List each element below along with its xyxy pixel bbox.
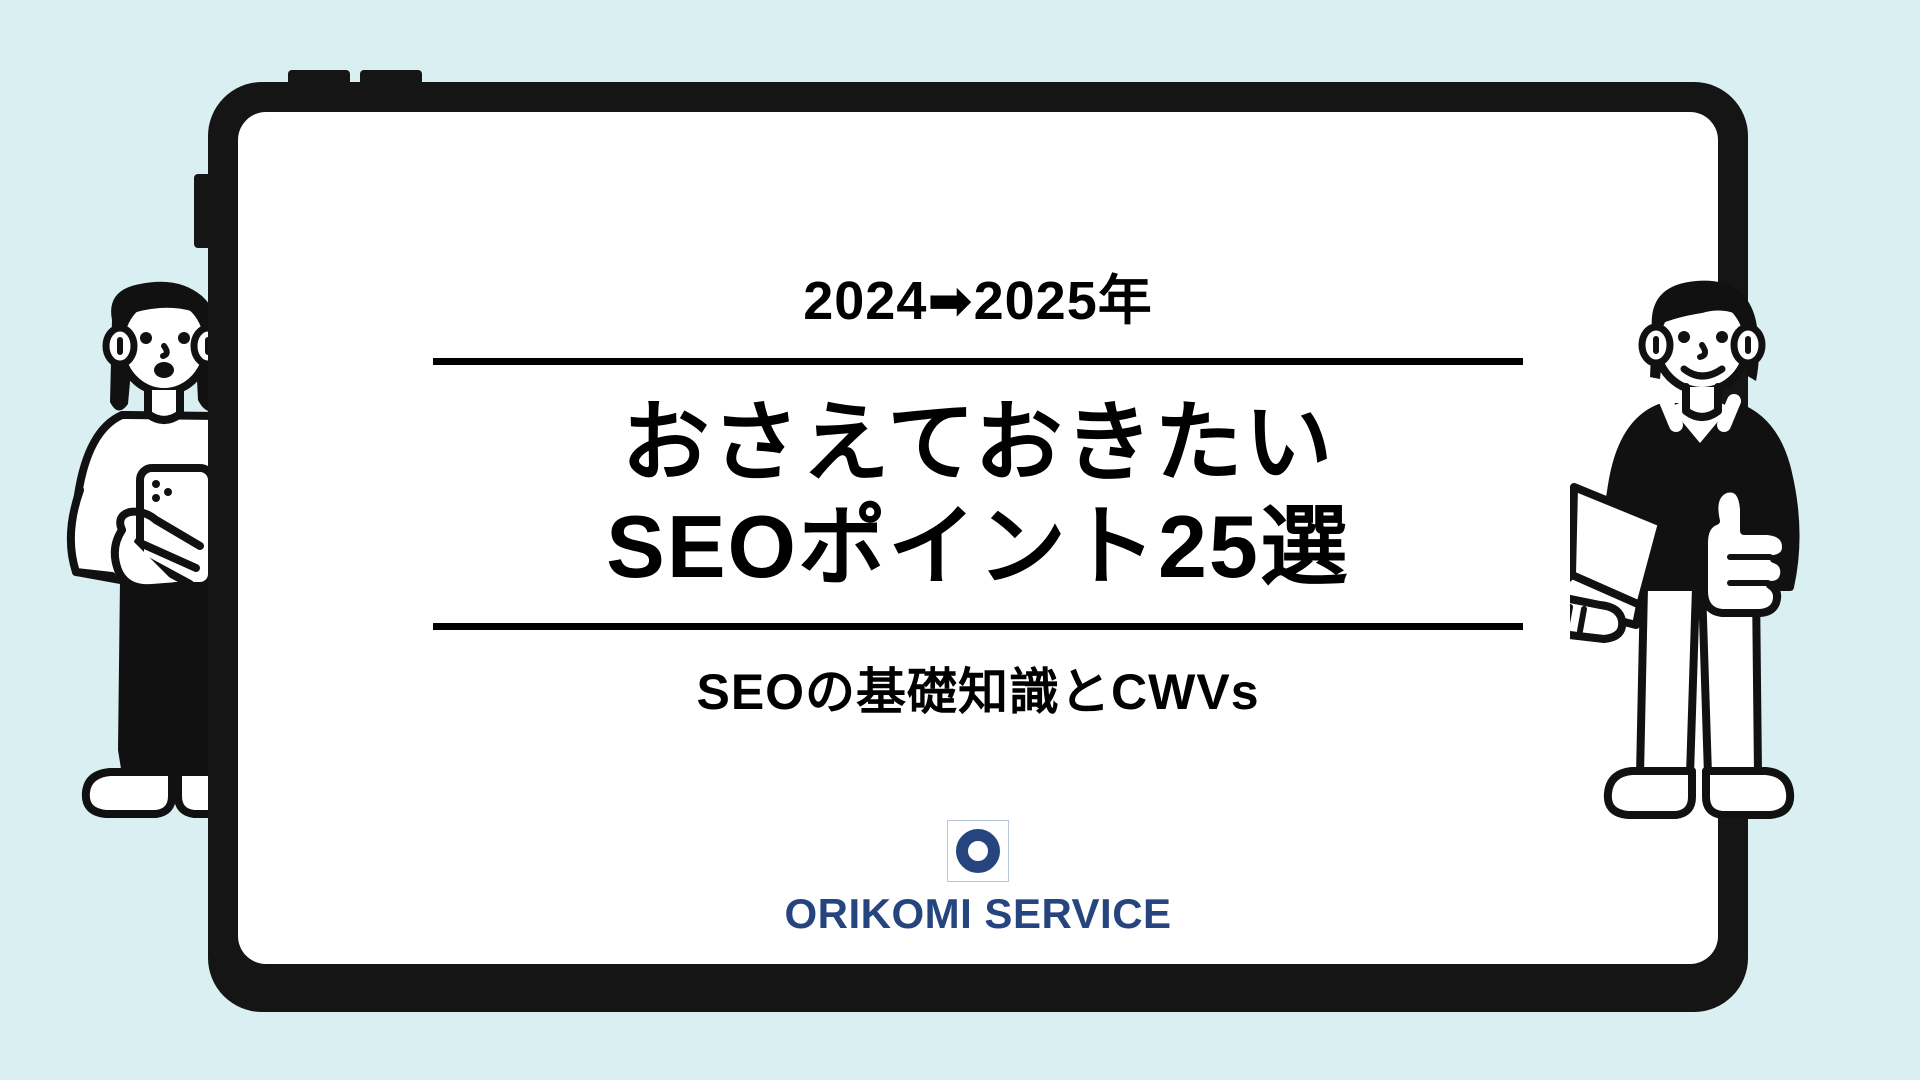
subtitle-label: SEOの基礎知識とCWVs bbox=[696, 652, 1259, 724]
brand-logo: ORIKOMI SERVICE bbox=[784, 820, 1171, 938]
divider-top bbox=[433, 358, 1523, 365]
headline-line-2: SEOポイント25選 bbox=[606, 495, 1350, 599]
divider-bottom bbox=[433, 623, 1523, 630]
tablet-screen: 2024➡2025年 おさえておきたい SEOポイント25選 SEOの基礎知識と… bbox=[238, 112, 1718, 964]
headline-line-1: おさえておきたい bbox=[606, 391, 1350, 495]
tablet-device: 2024➡2025年 おさえておきたい SEOポイント25選 SEOの基礎知識と… bbox=[208, 82, 1748, 1012]
illustration-man-with-laptop bbox=[1570, 275, 1840, 830]
headline-block: おさえておきたい SEOポイント25選 bbox=[606, 391, 1350, 599]
eyebrow-year-label: 2024➡2025年 bbox=[803, 274, 1153, 328]
slide-canvas: 2024➡2025年 おさえておきたい SEOポイント25選 SEOの基礎知識と… bbox=[0, 0, 1920, 1080]
slide-content: 2024➡2025年 おさえておきたい SEOポイント25選 SEOの基礎知識と… bbox=[238, 112, 1718, 964]
brand-name-label: ORIKOMI SERVICE bbox=[784, 890, 1171, 938]
ring-logo-icon bbox=[947, 820, 1009, 882]
